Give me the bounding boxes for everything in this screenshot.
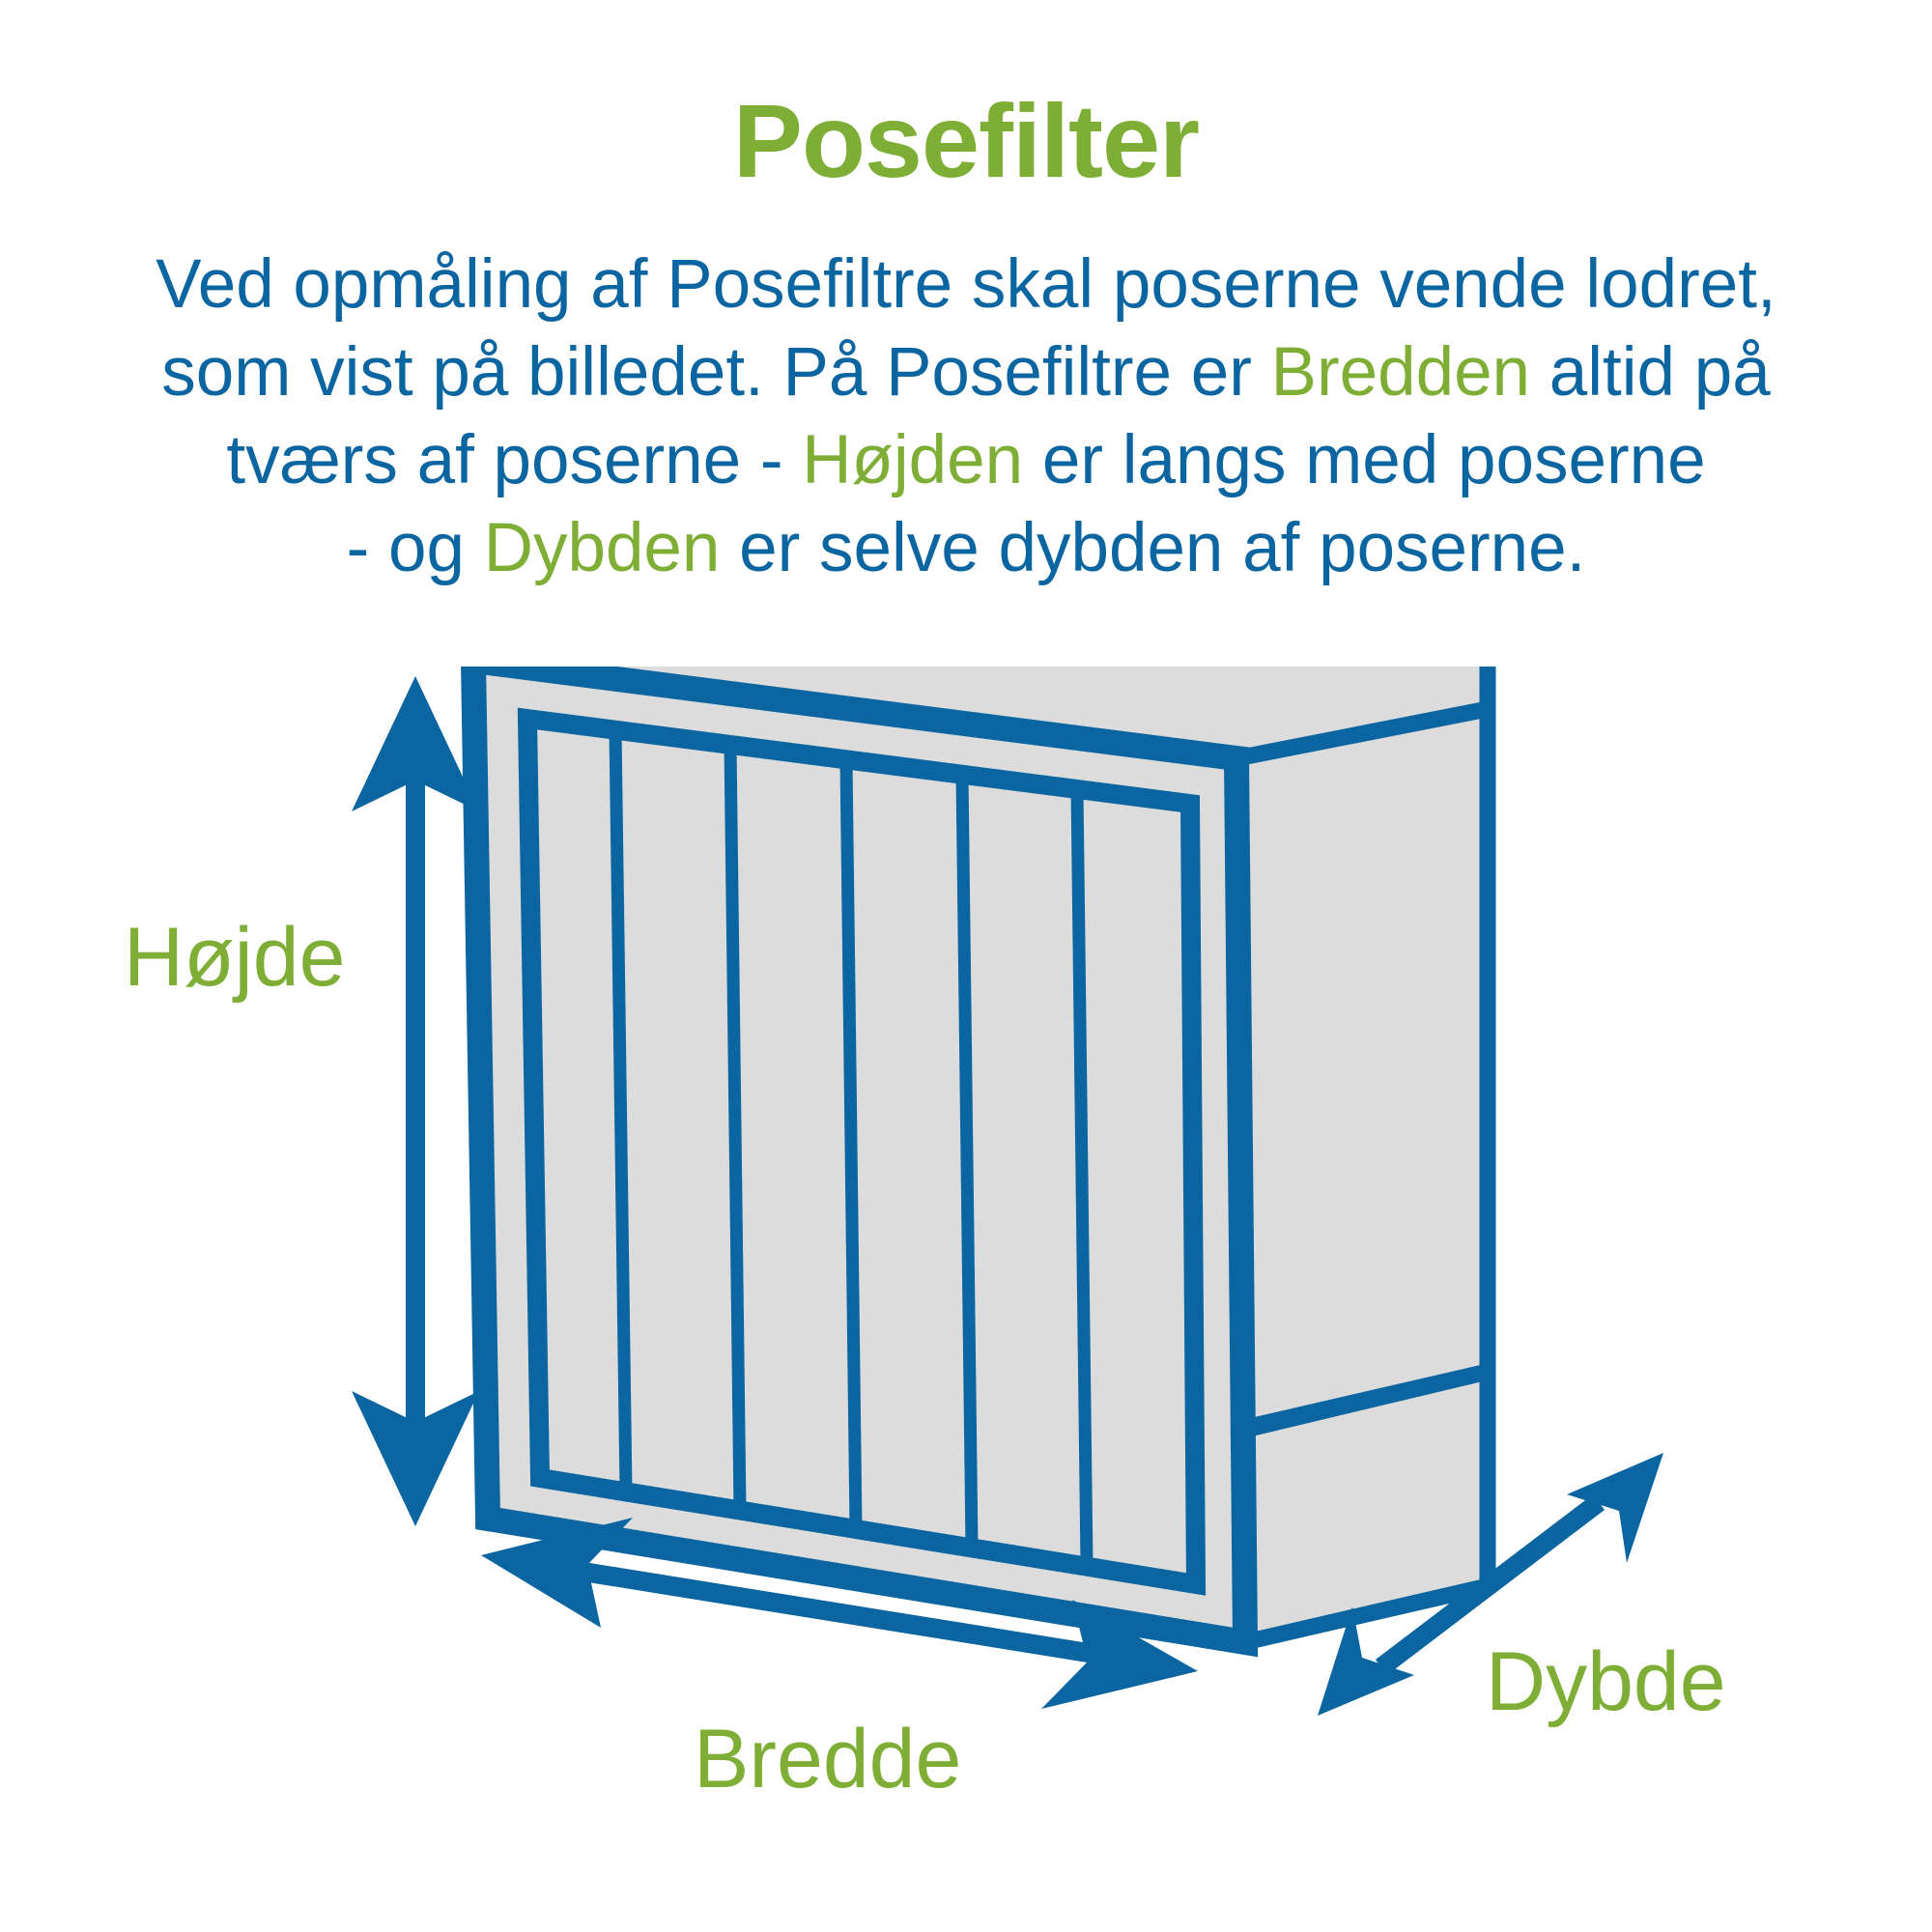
height-arrow [352,676,479,1526]
intro-line-1: Ved opmåling af Posefiltre skal poserne … [58,241,1874,329]
bag-filter-illustration: Højde Bredde Dybde [0,667,1932,1932]
page-title: Posefilter [0,0,1932,193]
intro-line-3-text-a: tværs af poserne - [226,422,802,498]
intro-line-2-text-a: som vist på billedet. På Posefiltre er [161,334,1270,411]
intro-line-3-text-b: er langs med poserne [1023,422,1705,498]
intro-line-1-text: Ved opmåling af Posefiltre skal poserne … [156,246,1776,323]
intro-highlight-hojden: Højden [802,422,1023,498]
intro-line-4-text-a: - og [347,510,484,586]
height-label: Højde [124,911,345,1004]
right-side-face [1236,667,1488,1430]
depth-label: Dybde [1486,1635,1726,1728]
intro-line-2: som vist på billedet. På Posefiltre er B… [58,329,1874,417]
intro-highlight-dybden: Dybden [484,510,721,586]
bag-filter-diagram: Højde Bredde Dybde [0,667,1932,1932]
width-label: Bredde [694,1713,961,1805]
intro-line-4: - og Dybden er selve dybden af poserne. [58,505,1874,593]
intro-line-2-text-b: altid på [1530,334,1771,411]
page-root: Posefilter Ved opmåling af Posefiltre sk… [0,0,1932,1932]
intro-line-4-text-b: er selve dybden af poserne. [720,510,1585,586]
intro-line-3: tværs af poserne - Højden er langs med p… [58,417,1874,505]
header: Posefilter Ved opmåling af Posefiltre sk… [0,0,1932,593]
intro-highlight-bredden: Bredden [1271,334,1530,411]
intro-paragraph: Ved opmåling af Posefiltre skal poserne … [58,193,1874,593]
